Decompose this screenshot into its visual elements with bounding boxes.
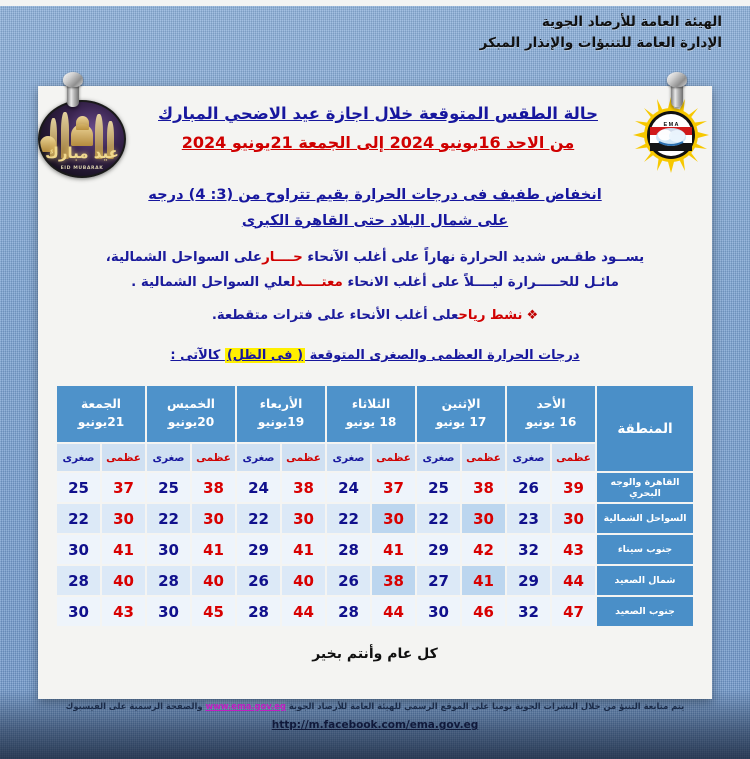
footer-note-text-b: والصفحة الرسمية على الفيسبوك: [66, 701, 206, 711]
cell-max-1-5: 30: [102, 504, 145, 533]
temperature-drop-line-1: انخفاض طفيف فى درجات الحرارة بقيم تتراوح…: [62, 182, 688, 208]
cell-min-3-2: 26: [327, 566, 370, 595]
pushpin-top-right-icon: [664, 72, 690, 108]
cell-min-0-2: 24: [327, 473, 370, 502]
wind-text-rest: على أغلب الأنحاء على فترات متقطعة.: [212, 308, 459, 323]
cell-min-3-1: 27: [417, 566, 460, 595]
footer-note: يتم متابعة التنبؤ من خلال النشرات الجوية…: [0, 699, 750, 735]
cell-max-1-4: 30: [192, 504, 235, 533]
cell-min-1-0: 23: [507, 504, 550, 533]
table-intro: درجات الحرارة العظمى والصغرى المتوقعة ( …: [62, 348, 688, 363]
day-date-5: 21يونيو: [57, 414, 145, 432]
col-min-1: صغرى: [417, 444, 460, 471]
table-header-day-2: الثلاثاء 18 يونيو: [327, 386, 415, 442]
cell-max-4-1: 46: [462, 597, 505, 626]
cell-min-2-0: 32: [507, 535, 550, 564]
cell-max-1-0: 30: [552, 504, 595, 533]
nighttime-text-highlight: معتــــدل: [290, 275, 342, 290]
forecast-title: حالة الطقس المتوقعة خلال اجازة عيد الاضح…: [130, 102, 626, 127]
title-row: عيد مبارك EID MUBARAK: [38, 94, 712, 178]
cell-max-0-2: 37: [372, 473, 415, 502]
cell-min-1-1: 22: [417, 504, 460, 533]
forecast-paper-panel: عيد مبارك EID MUBARAK: [38, 86, 712, 699]
wind-line: ❖نشط رياحعلى أغلب الأنحاء على فترات متقط…: [62, 308, 688, 323]
cell-max-0-3: 38: [282, 473, 325, 502]
daytime-text-part-b: على السواحل الشمالية،: [106, 250, 262, 265]
day-name-4: الخميس: [147, 396, 235, 414]
table-intro-part-a: درجات الحرارة العظمى والصغرى المتوقعة: [305, 348, 580, 363]
region-label-3: شمال الصعيد: [597, 566, 693, 595]
cell-max-4-2: 44: [372, 597, 415, 626]
cell-max-2-0: 43: [552, 535, 595, 564]
col-min-3: صغرى: [237, 444, 280, 471]
region-label-0: القاهرة والوجه البحري: [597, 473, 693, 502]
agency-department-line: الإدارة العامة للتنبؤات والإنذار المبكر: [480, 33, 722, 54]
table-row: شمال الصعيد 44 29 41 27 38 26 40 26 40 2…: [57, 566, 693, 595]
wind-text-highlight: نشط رياح: [458, 308, 522, 323]
region-label-4: جنوب الصعيد: [597, 597, 693, 626]
top-white-strip: [0, 0, 750, 6]
forecast-table-wrapper: المنطقة الأحد 16 يونيو الإثنين 17 يونيو …: [55, 384, 695, 628]
agency-header: الهيئة العامة للأرصاد الجوية الإدارة الع…: [480, 12, 722, 54]
forecast-table: المنطقة الأحد 16 يونيو الإثنين 17 يونيو …: [55, 384, 695, 628]
facebook-page-link[interactable]: http://m.facebook.com/ema.gov.eg: [0, 716, 750, 735]
table-header-region: المنطقة: [597, 386, 693, 471]
agency-name-line: الهيئة العامة للأرصاد الجوية: [480, 12, 722, 33]
wind-note: ❖نشط رياحعلى أغلب الأنحاء على فترات متقط…: [62, 308, 688, 323]
cell-max-0-0: 39: [552, 473, 595, 502]
region-label-1: السواحل الشمالية: [597, 504, 693, 533]
table-row: القاهرة والوجه البحري 39 26 38 25 37 24 …: [57, 473, 693, 502]
table-header-day-3: الأربعاء 19يونيو: [237, 386, 325, 442]
cell-max-1-1: 30: [462, 504, 505, 533]
weather-description: يســود طقـس شديد الحرارة نهاراً على أغلب…: [62, 246, 688, 296]
table-intro-highlight: ( فى الظل): [225, 348, 305, 363]
col-min-5: صغرى: [57, 444, 100, 471]
footer-note-text-a: يتم متابعة التنبؤ من خلال النشرات الجوية…: [286, 701, 684, 711]
cell-max-3-3: 40: [282, 566, 325, 595]
svg-text:E M A: E M A: [663, 122, 678, 128]
table-header-day-5: الجمعة 21يونيو: [57, 386, 145, 442]
cell-min-2-5: 30: [57, 535, 100, 564]
cell-max-0-5: 37: [102, 473, 145, 502]
cell-max-2-5: 41: [102, 535, 145, 564]
col-min-4: صغرى: [147, 444, 190, 471]
table-row: جنوب الصعيد 47 32 46 30 44 28 44 28 45 3…: [57, 597, 693, 626]
daytime-text-part-a: يســود طقـس شديد الحرارة نهاراً على أغلب…: [303, 250, 644, 265]
temperature-drop-line-2: على شمال البلاد حتى القاهرة الكبرى: [62, 208, 688, 234]
table-header-days-row: المنطقة الأحد 16 يونيو الإثنين 17 يونيو …: [57, 386, 693, 442]
cell-min-1-5: 22: [57, 504, 100, 533]
cell-min-0-0: 26: [507, 473, 550, 502]
cell-max-3-5: 40: [102, 566, 145, 595]
cell-max-0-1: 38: [462, 473, 505, 502]
day-name-0: الأحد: [507, 396, 595, 414]
col-max-1: عظمى: [462, 444, 505, 471]
cell-max-4-5: 43: [102, 597, 145, 626]
day-date-0: 16 يونيو: [507, 414, 595, 432]
table-row: جنوب سيناء 43 32 42 29 41 28 41 29 41 30…: [57, 535, 693, 564]
cell-max-2-4: 41: [192, 535, 235, 564]
cell-max-3-1: 41: [462, 566, 505, 595]
cell-min-2-1: 29: [417, 535, 460, 564]
col-max-3: عظمى: [282, 444, 325, 471]
cell-min-3-0: 29: [507, 566, 550, 595]
table-intro-line: درجات الحرارة العظمى والصغرى المتوقعة ( …: [62, 348, 688, 363]
col-min-0: صغرى: [507, 444, 550, 471]
nighttime-text-part-a: مائـل للحـــــرارة ليــــلاً على أغلب ال…: [343, 275, 619, 290]
day-date-3: 19يونيو: [237, 414, 325, 432]
col-max-5: عظمى: [102, 444, 145, 471]
cell-min-4-5: 30: [57, 597, 100, 626]
cell-max-2-3: 41: [282, 535, 325, 564]
cell-min-4-3: 28: [237, 597, 280, 626]
cell-max-3-4: 40: [192, 566, 235, 595]
official-website-link[interactable]: www.ema.gov.eg: [205, 701, 285, 711]
cell-min-4-1: 30: [417, 597, 460, 626]
day-date-1: 17 يونيو: [417, 414, 505, 432]
day-date-2: 18 يونيو: [327, 414, 415, 432]
cell-max-2-1: 42: [462, 535, 505, 564]
cell-min-4-4: 30: [147, 597, 190, 626]
table-row: السواحل الشمالية 30 23 30 22 30 22 30 22…: [57, 504, 693, 533]
cell-min-4-0: 32: [507, 597, 550, 626]
forecast-table-body: القاهرة والوجه البحري 39 26 38 25 37 24 …: [57, 473, 693, 626]
greeting-text: كل عام وأنتم بخير: [38, 646, 712, 662]
main-titles: حالة الطقس المتوقعة خلال اجازة عيد الاضح…: [130, 102, 626, 155]
daytime-text-highlight: حــــار: [262, 250, 303, 265]
eid-logo-arabic-text: عيد مبارك: [40, 144, 124, 162]
cell-min-1-2: 22: [327, 504, 370, 533]
cell-min-3-3: 26: [237, 566, 280, 595]
cell-min-0-4: 25: [147, 473, 190, 502]
table-header-day-0: الأحد 16 يونيو: [507, 386, 595, 442]
day-name-1: الإثنين: [417, 396, 505, 414]
forecast-date-range: من الاحد 16يونيو 2024 إلى الجمعة 21يونيو…: [130, 130, 626, 156]
daytime-weather-line: يســود طقـس شديد الحرارة نهاراً على أغلب…: [62, 246, 688, 271]
nighttime-weather-line: مائـل للحـــــرارة ليــــلاً على أغلب ال…: [62, 271, 688, 296]
cell-max-0-4: 38: [192, 473, 235, 502]
day-date-4: 20يونيو: [147, 414, 235, 432]
pushpin-top-left-icon: [60, 72, 86, 108]
col-max-4: عظمى: [192, 444, 235, 471]
cell-min-2-4: 30: [147, 535, 190, 564]
cell-min-3-4: 28: [147, 566, 190, 595]
cell-max-3-0: 44: [552, 566, 595, 595]
cell-min-2-2: 28: [327, 535, 370, 564]
cell-max-1-3: 30: [282, 504, 325, 533]
col-min-2: صغرى: [327, 444, 370, 471]
cell-max-4-3: 44: [282, 597, 325, 626]
cell-min-1-3: 22: [237, 504, 280, 533]
day-name-5: الجمعة: [57, 396, 145, 414]
day-name-2: الثلاثاء: [327, 396, 415, 414]
cell-max-2-2: 41: [372, 535, 415, 564]
day-name-3: الأربعاء: [237, 396, 325, 414]
temperature-drop-note: انخفاض طفيف فى درجات الحرارة بقيم تتراوح…: [62, 182, 688, 233]
cell-min-3-5: 28: [57, 566, 100, 595]
table-header-day-1: الإثنين 17 يونيو: [417, 386, 505, 442]
cell-min-0-1: 25: [417, 473, 460, 502]
cell-min-0-5: 25: [57, 473, 100, 502]
region-label-2: جنوب سيناء: [597, 535, 693, 564]
cell-min-2-3: 29: [237, 535, 280, 564]
cell-max-3-2: 38: [372, 566, 415, 595]
col-max-2: عظمى: [372, 444, 415, 471]
nighttime-text-part-b: علي السواحل الشمالية .: [131, 275, 290, 290]
col-max-0: عظمى: [552, 444, 595, 471]
eid-logo-label: EID MUBARAK: [40, 166, 124, 171]
eid-mubarak-logo-icon: عيد مبارك EID MUBARAK: [38, 100, 126, 178]
bullet-icon: ❖: [527, 308, 539, 323]
cell-max-4-4: 45: [192, 597, 235, 626]
cell-min-0-3: 24: [237, 473, 280, 502]
cell-min-4-2: 28: [327, 597, 370, 626]
cell-max-4-0: 47: [552, 597, 595, 626]
table-intro-part-b: كالآتى :: [170, 348, 224, 363]
cell-max-1-2: 30: [372, 504, 415, 533]
table-header-day-4: الخميس 20يونيو: [147, 386, 235, 442]
cell-min-1-4: 22: [147, 504, 190, 533]
